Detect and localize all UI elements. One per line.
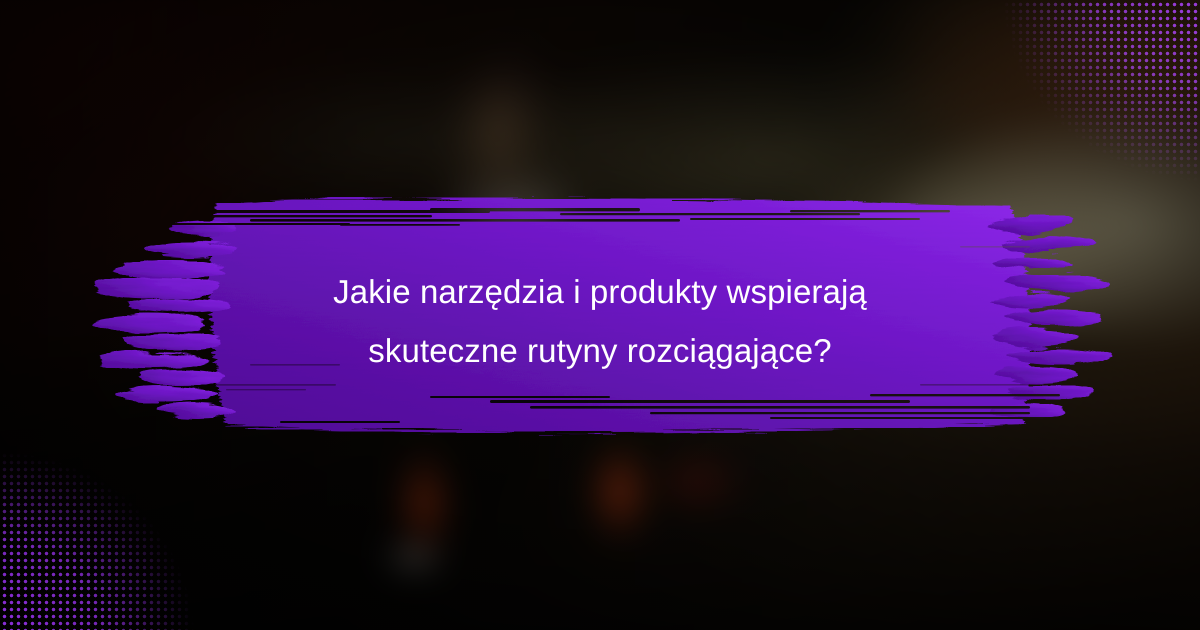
social-card-canvas: Jakie narzędzia i produkty wspierają sku… [0,0,1200,630]
page-title: Jakie narzędzia i produkty wspierają sku… [150,262,1050,380]
